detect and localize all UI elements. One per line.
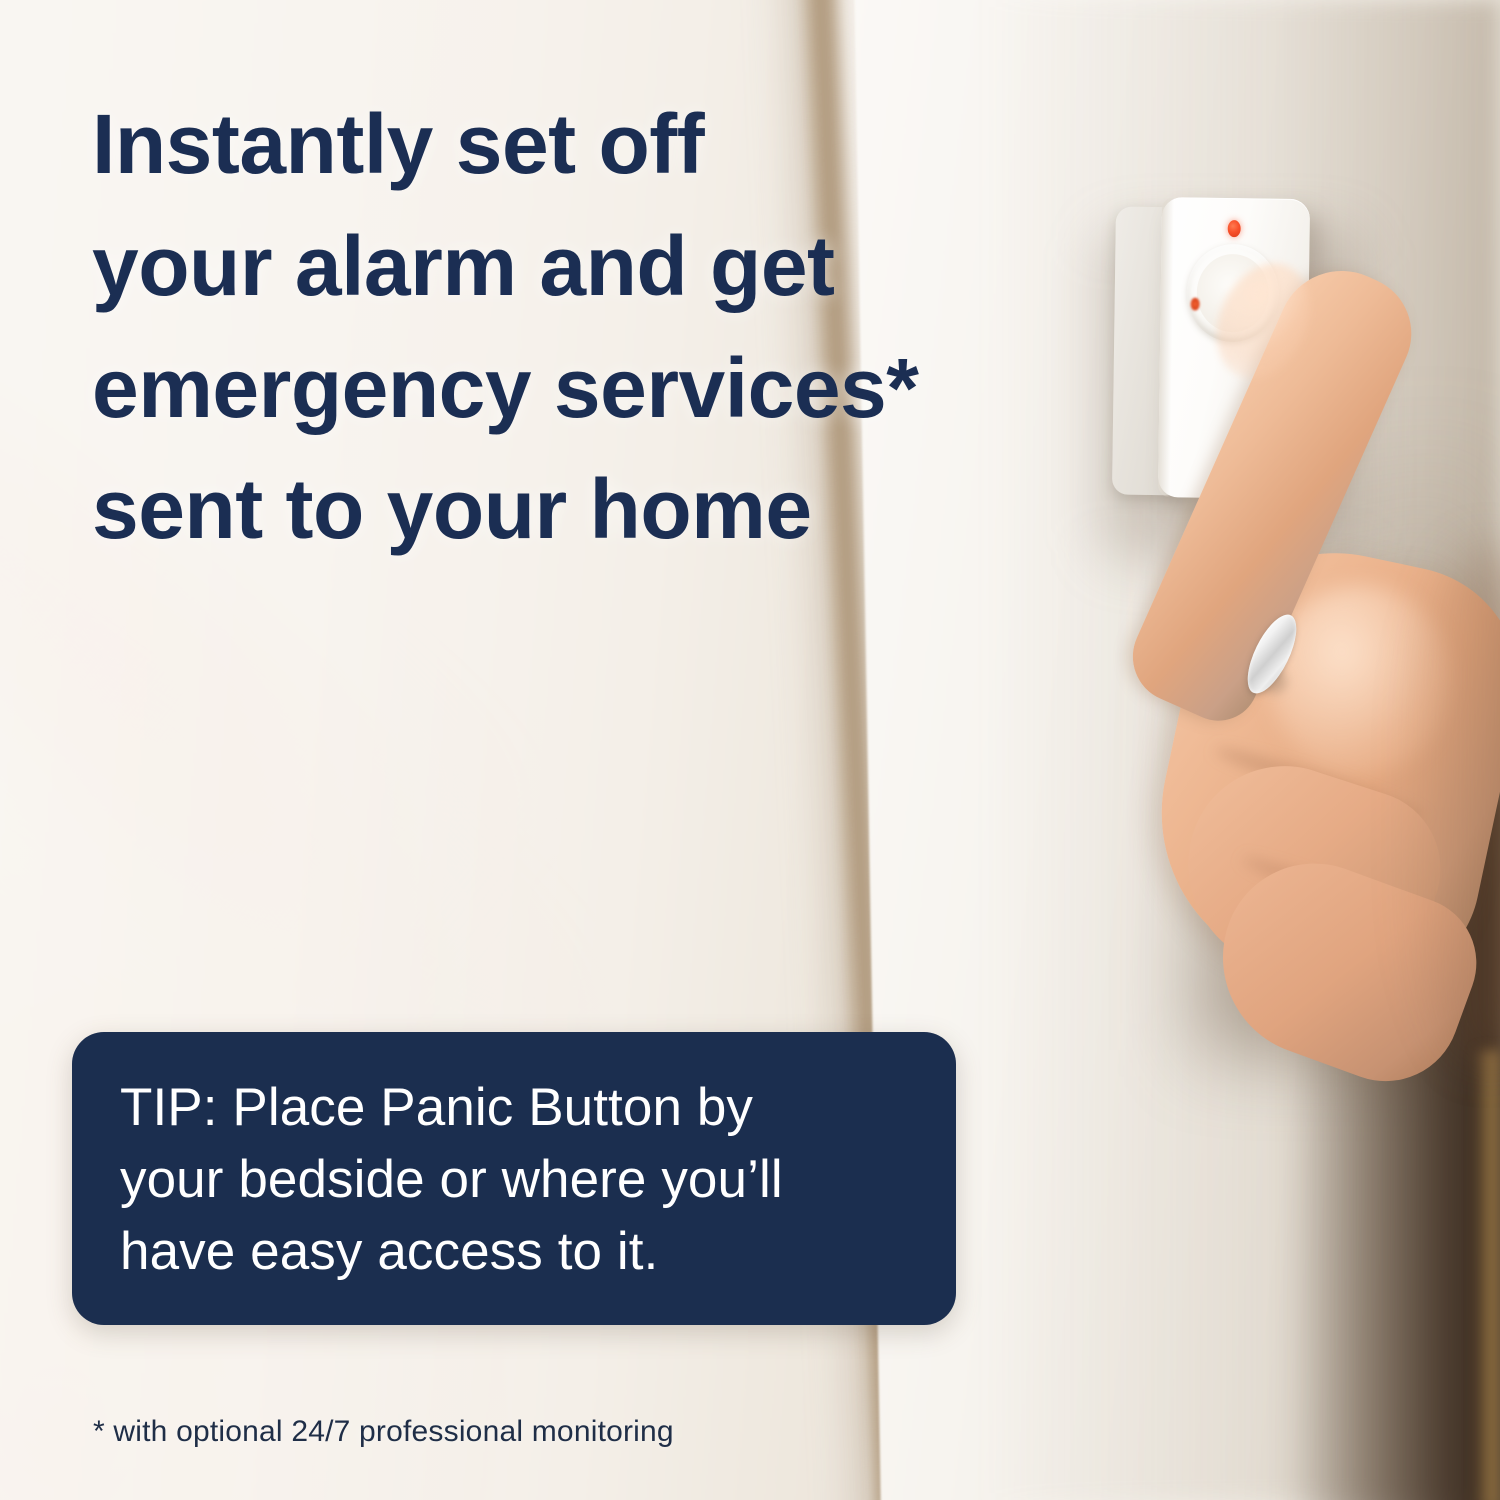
- advertisement-graphic: Instantly set off your alarm and get eme…: [0, 0, 1500, 1500]
- hand-pressing-button: [1150, 215, 1500, 1135]
- tip-callout-text: TIP: Place Panic Button by your bedside …: [120, 1072, 920, 1288]
- footnote-disclaimer: * with optional 24/7 professional monito…: [93, 1415, 674, 1449]
- page-title: Instantly set off your alarm and get eme…: [92, 84, 1102, 571]
- tip-callout-box: TIP: Place Panic Button by your bedside …: [72, 1032, 956, 1325]
